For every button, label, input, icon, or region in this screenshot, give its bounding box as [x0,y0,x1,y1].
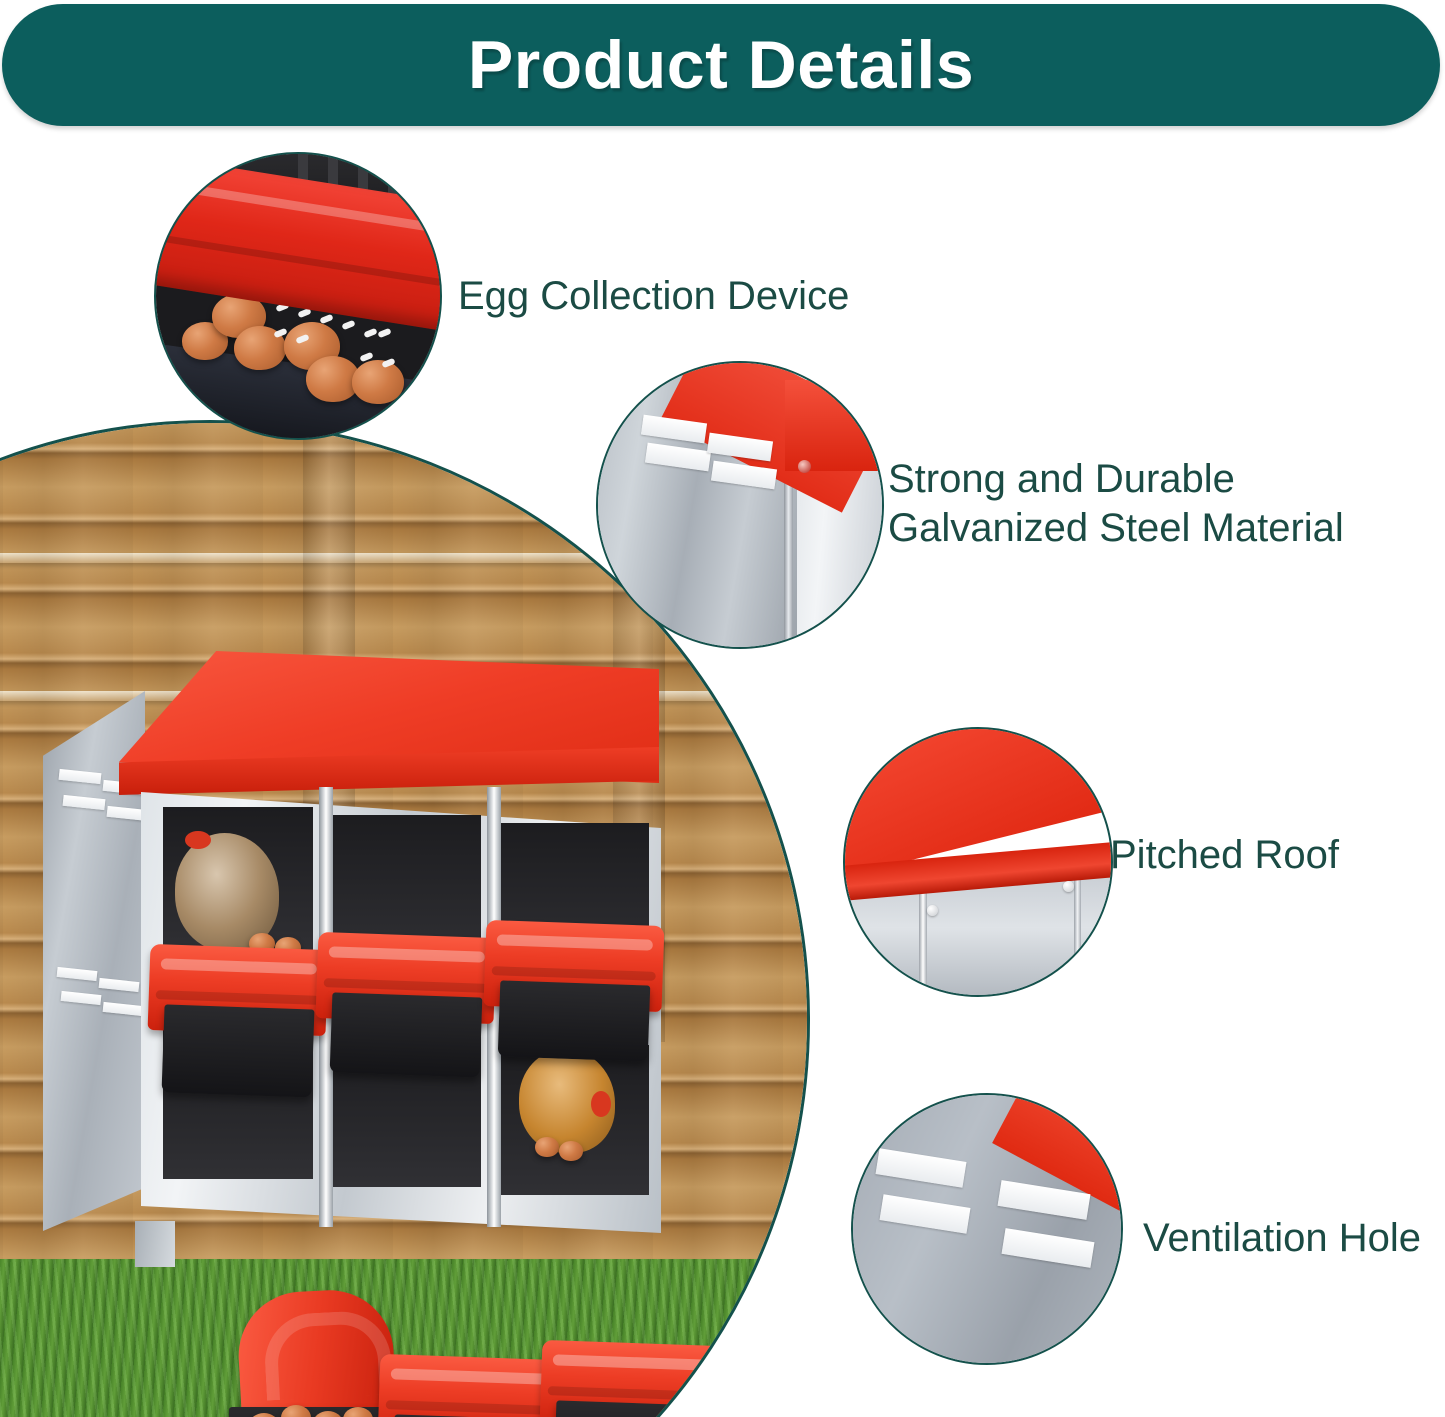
egg-collection-tray [378,1354,559,1417]
product-details-infographic: Product Details [0,0,1445,1417]
red-roof-face [785,380,884,471]
support-leg [135,1221,175,1267]
header-banner: Product Details [2,4,1440,126]
callout-ventilation-hole [851,1093,1123,1365]
chicken-comb [185,831,211,849]
callout-egg-collection [154,152,442,440]
egg-tray-bin [498,980,651,1061]
egg [352,360,404,404]
screw-icon [927,905,938,916]
feature-label-galvanized-steel: Strong and Durable Galvanized Steel Mate… [888,455,1344,553]
screw-icon [798,460,811,473]
callout-galvanized-steel [596,361,884,649]
egg-tray-bin [162,1004,315,1097]
egg [535,1137,559,1157]
nesting-box-unit [43,651,663,1281]
egg [559,1141,583,1161]
chicken-comb [591,1091,611,1117]
page-title: Product Details [2,26,1440,104]
egg-tray-bin [330,992,483,1077]
feature-label-egg-collection: Egg Collection Device [458,272,849,321]
feature-label-ventilation-hole: Ventilation Hole [1143,1214,1421,1263]
feature-label-pitched-roof: Pitched Roof [1110,831,1339,880]
screw-icon [1063,881,1074,892]
open-egg-tray-lid[interactable] [235,1287,397,1417]
callout-pitched-roof [843,727,1113,997]
